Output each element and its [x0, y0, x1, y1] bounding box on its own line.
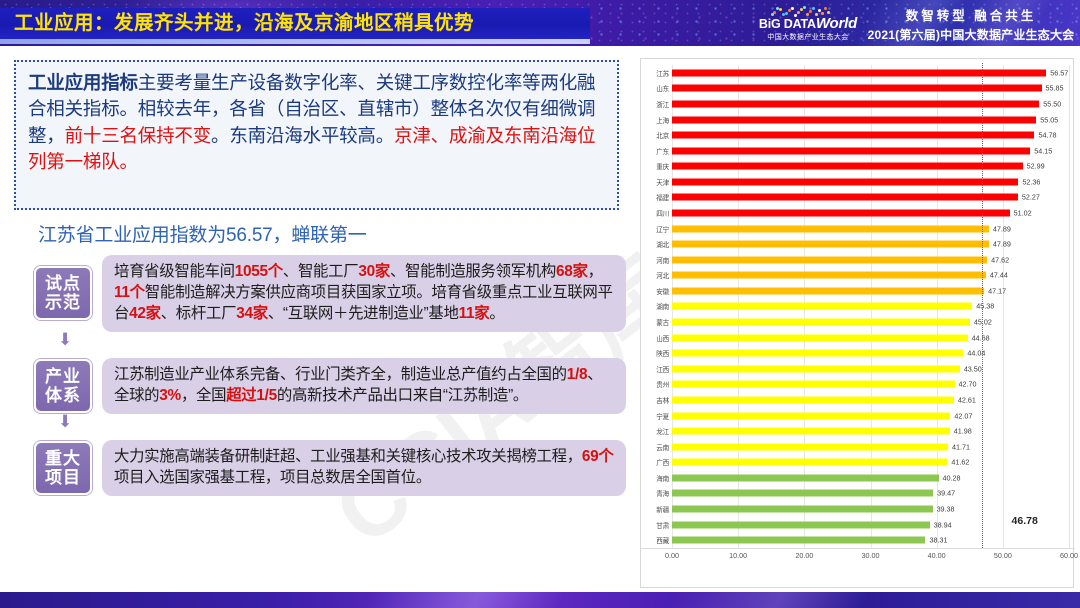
bar-value-label: 42.07 [950, 411, 972, 420]
chart-bar-row: 云南41.71 [641, 439, 1075, 455]
bar-track: 47.62 [672, 252, 1069, 268]
bar-category-label: 辽宁 [641, 224, 669, 234]
slide-footer [0, 592, 1080, 608]
bar-category-label: 山西 [641, 333, 669, 343]
chart-bar[interactable] [672, 521, 930, 528]
chart-bar-row: 浙江55.50 [641, 96, 1075, 112]
chart-bar-row: 安徽47.17 [641, 283, 1075, 299]
bar-value-label: 39.38 [933, 504, 955, 513]
chart-bar-row: 北京54.78 [641, 127, 1075, 143]
left-content-panel: 工业应用指标主要考量生产设备数字化率、关键工序数控化率等两化融合相关指标。相较去… [14, 60, 626, 588]
emphasis-number: 42家 [129, 305, 161, 322]
emphasis-number: 34家 [236, 305, 268, 322]
bar-value-label: 41.71 [948, 442, 970, 451]
chart-bar-row: 宁夏42.07 [641, 408, 1075, 424]
bar-category-label: 天津 [641, 177, 669, 187]
bar-category-label: 重庆 [641, 161, 669, 171]
bar-track: 47.89 [672, 221, 1069, 237]
bar-value-label: 43.50 [960, 364, 982, 373]
bar-category-label: 湖南 [641, 301, 669, 311]
bar-track: 41.98 [672, 423, 1069, 439]
emphasis-number: 3% [159, 387, 181, 404]
emphasis-number: 1/8 [567, 366, 588, 383]
chart-bar[interactable] [672, 537, 925, 544]
bar-value-label: 52.27 [1018, 193, 1040, 202]
logo-world-label: World [816, 15, 857, 32]
bar-category-label: 甘肃 [641, 520, 669, 530]
chart-bar[interactable] [672, 85, 1042, 92]
chart-bar-row: 湖南45.38 [641, 299, 1075, 315]
bigdata-world-logo: BiG DATAWorld 中国大数据产业生态大会 [760, 3, 856, 43]
emphasis-number: 68家 [556, 263, 588, 280]
bar-value-label: 52.99 [1023, 162, 1045, 171]
bar-category-label: 广西 [641, 457, 669, 467]
chart-bar[interactable] [672, 334, 968, 341]
bar-value-label: 55.05 [1036, 115, 1058, 124]
bar-category-label: 蒙古 [641, 317, 669, 327]
bar-value-label: 54.15 [1030, 146, 1052, 155]
bar-track: 54.15 [672, 143, 1069, 159]
bar-value-label: 56.57 [1046, 68, 1068, 77]
chart-bar-row: 龙江41.98 [641, 423, 1075, 439]
industrial-application-index-chart: 江苏56.57山东55.85浙江55.50上海55.05北京54.78广东54.… [640, 58, 1074, 588]
chart-bar[interactable] [672, 505, 933, 512]
intro-highlight-1: 前十三名保持不变 [65, 125, 211, 146]
flow-badge-pilot[interactable]: 试点 示范 [34, 266, 92, 320]
chart-bar[interactable] [672, 225, 989, 232]
bar-track: 52.99 [672, 158, 1069, 174]
x-axis-tick-label: 50.00 [994, 551, 1012, 560]
bar-category-label: 海南 [641, 473, 669, 483]
chart-bar-row: 吉林42.61 [641, 392, 1075, 408]
intro-bold-term: 工业应用指标 [28, 72, 138, 93]
bar-category-label: 龙江 [641, 426, 669, 436]
bar-value-label: 47.17 [984, 286, 1006, 295]
bar-value-label: 42.70 [955, 380, 977, 389]
arrow-down-icon: ⬇ [58, 332, 69, 348]
x-axis-tick-label: 30.00 [862, 551, 880, 560]
chart-bar[interactable] [672, 256, 987, 263]
page-title-bar: 工业应用：发展齐头并进，沿海及京渝地区稍具优势 [0, 8, 590, 39]
bar-value-label: 47.44 [986, 271, 1008, 280]
bar-value-label: 52.36 [1018, 177, 1040, 186]
chart-bar[interactable] [672, 163, 1023, 170]
chart-bar-row: 湖北47.89 [641, 236, 1075, 252]
flow-badge-line2: 项目 [45, 468, 81, 487]
bar-value-label: 51.02 [1010, 208, 1032, 217]
bar-category-label: 河北 [641, 270, 669, 280]
intro-paragraph: 工业应用指标主要考量生产设备数字化率、关键工序数控化率等两化融合相关指标。相较去… [28, 70, 607, 175]
bar-category-label: 湖北 [641, 239, 669, 249]
chart-bar-row: 贵州42.70 [641, 377, 1075, 393]
bar-track: 38.31 [672, 532, 1069, 548]
chart-bar[interactable] [672, 287, 984, 294]
flow-item: 重大 项目 大力实施高端装备研制赶超、工业强基和关键核心技术攻关揭榜工程，69个… [14, 440, 626, 496]
bar-category-label: 河南 [641, 255, 669, 265]
chart-bar-row: 新疆39.38 [641, 501, 1075, 517]
bar-value-label: 40.28 [939, 473, 961, 482]
bar-value-label: 47.89 [989, 240, 1011, 249]
bar-category-label: 江苏 [641, 68, 669, 78]
chart-bar-row: 河南47.62 [641, 252, 1075, 268]
bar-track: 55.85 [672, 81, 1069, 97]
chart-bar[interactable] [672, 474, 939, 481]
bar-category-label: 陕西 [641, 348, 669, 358]
chart-bar-row: 西藏38.31 [641, 532, 1075, 548]
bar-track: 55.50 [672, 96, 1069, 112]
bar-category-label: 贵州 [641, 379, 669, 389]
chart-bar[interactable] [672, 319, 970, 326]
chart-reference-line [982, 63, 983, 548]
bar-value-label: 44.68 [968, 333, 990, 342]
chart-bar-row: 上海55.05 [641, 112, 1075, 128]
intro-callout-box: 工业应用指标主要考量生产设备数字化率、关键工序数控化率等两化融合相关指标。相较去… [14, 60, 619, 210]
bar-category-label: 四川 [641, 208, 669, 218]
flow-badge-line2: 示范 [45, 293, 81, 312]
bar-track: 44.68 [672, 330, 1069, 346]
bar-track: 52.27 [672, 190, 1069, 206]
chart-bar[interactable] [672, 350, 963, 357]
bar-track: 52.36 [672, 174, 1069, 190]
emphasis-number: 30家 [358, 263, 390, 280]
flow-badge-line2: 体系 [45, 386, 81, 405]
chart-bar-row: 甘肃38.94 [641, 517, 1075, 533]
logo-bigdata-text: BiG DATAWorld [759, 16, 857, 31]
bar-value-label: 38.31 [925, 536, 947, 545]
intro-text-2: 。东南沿海水平较高。 [211, 125, 394, 146]
bar-value-label: 41.98 [950, 427, 972, 436]
chart-bar-row: 山西44.68 [641, 330, 1075, 346]
emphasis-number: 11个 [114, 284, 145, 301]
bar-value-label: 39.47 [933, 489, 955, 498]
x-axis-tick-label: 10.00 [729, 551, 747, 560]
bar-track: 51.02 [672, 205, 1069, 221]
conference-title-block: 数智转型 融合共生 2021(第六届)中国大数据产业生态大会 [868, 4, 1074, 44]
chart-bar[interactable] [672, 194, 1018, 201]
bar-value-label: 47.89 [989, 224, 1011, 233]
emphasis-number: 69个 [582, 448, 614, 465]
chart-bar-row: 海南40.28 [641, 470, 1075, 486]
bar-category-label: 青海 [641, 488, 669, 498]
x-axis-tick-label: 0.00 [665, 551, 679, 560]
bar-track: 39.38 [672, 501, 1069, 517]
bar-track: 45.02 [672, 314, 1069, 330]
flow-connector: ⬇ [14, 414, 626, 432]
chart-bar-row: 广西41.62 [641, 454, 1075, 470]
chart-bar-row: 青海39.47 [641, 486, 1075, 502]
chart-bar[interactable] [672, 272, 986, 279]
footer-sheen [0, 592, 1080, 608]
chart-plot-area: 江苏56.57山东55.85浙江55.50上海55.05北京54.78广东54.… [641, 59, 1075, 567]
bar-track: 41.62 [672, 454, 1069, 470]
flow-badge-line1: 试点 [45, 274, 81, 293]
bar-category-label: 福建 [641, 192, 669, 202]
flow-badge-major-projects[interactable]: 重大 项目 [34, 441, 92, 495]
flow-item: 产业 体系 江苏制造业产业体系完备、行业门类齐全，制造业总产值约占全国的1/8、… [14, 358, 626, 414]
chart-bar[interactable] [672, 428, 950, 435]
page-title: 工业应用：发展齐头并进，沿海及京渝地区稍具优势 [14, 14, 474, 34]
chart-bar[interactable] [672, 100, 1039, 107]
bar-track: 43.50 [672, 361, 1069, 377]
title-underline [0, 39, 590, 44]
bar-track: 42.07 [672, 408, 1069, 424]
x-axis-tick-label: 60.00 [1060, 551, 1078, 560]
flow-body-industry-system: 江苏制造业产业体系完备、行业门类齐全，制造业总产值约占全国的1/8、全球的3%，… [102, 358, 626, 414]
flow-item: 试点 示范 培育省级智能车间1055个、智能工厂30家、智能制造服务领军机构68… [14, 255, 626, 332]
emphasis-number: 1055个 [235, 263, 283, 280]
flow-body-major-projects: 大力实施高端装备研制赶超、工业强基和关键核心技术攻关揭榜工程，69个项目入选国家… [102, 440, 626, 496]
emphasis-number: 11家 [459, 305, 490, 322]
bar-track: 40.28 [672, 470, 1069, 486]
bar-category-label: 北京 [641, 130, 669, 140]
bar-track: 42.70 [672, 377, 1069, 393]
bar-value-label: 45.38 [972, 302, 994, 311]
flow-connector: ⬇ [14, 332, 626, 350]
chart-bar[interactable] [672, 209, 1010, 216]
slide-root: 工业应用：发展齐头并进，沿海及京渝地区稍具优势 BiG DATAWorld 中国… [0, 0, 1080, 608]
chart-bar[interactable] [672, 396, 954, 403]
chart-bar[interactable] [672, 459, 947, 466]
x-axis-tick-label: 20.00 [795, 551, 813, 560]
chart-bar[interactable] [672, 69, 1046, 76]
chart-bar-row: 广东54.15 [641, 143, 1075, 159]
chart-bar[interactable] [672, 490, 933, 497]
bar-value-label: 55.85 [1042, 84, 1064, 93]
bar-category-label: 浙江 [641, 99, 669, 109]
flow-badge-industry-system[interactable]: 产业 体系 [34, 359, 92, 413]
bar-value-label: 55.50 [1039, 99, 1061, 108]
bar-track: 39.47 [672, 486, 1069, 502]
chart-bar[interactable] [672, 443, 948, 450]
chart-bar-row: 蒙古45.02 [641, 314, 1075, 330]
bar-value-label: 41.62 [947, 458, 969, 467]
chart-reference-label: 46.78 [1012, 515, 1038, 527]
bar-category-label: 上海 [641, 115, 669, 125]
chart-bar-row: 江西43.50 [641, 361, 1075, 377]
chart-bar[interactable] [672, 241, 989, 248]
bar-track: 55.05 [672, 112, 1069, 128]
chart-bar-row: 辽宁47.89 [641, 221, 1075, 237]
chart-axis-baseline [641, 548, 1075, 549]
bar-track: 41.71 [672, 439, 1069, 455]
bar-category-label: 云南 [641, 442, 669, 452]
logo-dot-cloud-icon [769, 5, 847, 16]
chart-bar-row: 四川51.02 [641, 205, 1075, 221]
chart-bar[interactable] [672, 381, 955, 388]
conference-name: 2021(第六届)中国大数据产业生态大会 [868, 26, 1075, 43]
chart-bar-row: 陕西44.04 [641, 345, 1075, 361]
bar-track: 47.17 [672, 283, 1069, 299]
bar-value-label: 38.94 [930, 520, 952, 529]
bar-track: 45.38 [672, 299, 1069, 315]
chart-bar-row: 福建52.27 [641, 190, 1075, 206]
bar-category-label: 广东 [641, 146, 669, 156]
flow-badge-line1: 重大 [45, 449, 81, 468]
bar-track: 54.78 [672, 127, 1069, 143]
flow-badge-line1: 产业 [45, 367, 81, 386]
chart-bar-row: 江苏56.57 [641, 65, 1075, 81]
chart-bar-rows: 江苏56.57山东55.85浙江55.50上海55.05北京54.78广东54.… [641, 65, 1075, 548]
chart-bar[interactable] [672, 178, 1018, 185]
bar-category-label: 新疆 [641, 504, 669, 514]
bar-track: 42.61 [672, 392, 1069, 408]
bar-category-label: 安徽 [641, 286, 669, 296]
arrow-down-icon: ⬇ [58, 414, 69, 430]
conference-slogan: 数智转型 融合共生 [906, 5, 1036, 24]
bar-value-label: 42.61 [954, 395, 976, 404]
bar-category-label: 宁夏 [641, 411, 669, 421]
bar-value-label: 54.78 [1034, 131, 1056, 140]
chart-bar[interactable] [672, 303, 972, 310]
bar-category-label: 江西 [641, 364, 669, 374]
logo-chinese-label: 中国大数据产业生态大会 [767, 32, 848, 42]
bar-category-label: 山东 [641, 83, 669, 93]
bar-value-label: 47.62 [987, 255, 1009, 264]
x-axis-tick-label: 40.00 [928, 551, 946, 560]
chart-bar[interactable] [672, 132, 1034, 139]
bar-category-label: 西藏 [641, 535, 669, 545]
bar-track: 56.57 [672, 65, 1069, 81]
bar-track: 47.44 [672, 268, 1069, 284]
chart-x-axis: 0.0010.0020.0030.0040.0050.0060.00 [641, 551, 1075, 565]
chart-bar[interactable] [672, 365, 960, 372]
chart-bar[interactable] [672, 412, 950, 419]
emphasis-number: 超过1/5 [226, 387, 277, 404]
bar-track: 38.94 [672, 517, 1069, 533]
logo-bigdata-label: BiG DATA [759, 17, 816, 31]
chart-bar[interactable] [672, 147, 1030, 154]
chart-bar-row: 山东55.85 [641, 81, 1075, 97]
flow-body-pilot: 培育省级智能车间1055个、智能工厂30家、智能制造服务领军机构68家，11个智… [102, 255, 626, 332]
bar-category-label: 吉林 [641, 395, 669, 405]
slide-header: 工业应用：发展齐头并进，沿海及京渝地区稍具优势 BiG DATAWorld 中国… [0, 0, 1080, 46]
chart-bar-row: 河北47.44 [641, 268, 1075, 284]
bar-track: 44.04 [672, 345, 1069, 361]
chart-bar-row: 天津52.36 [641, 174, 1075, 190]
chart-bar-row: 重庆52.99 [641, 158, 1075, 174]
bar-track: 47.89 [672, 236, 1069, 252]
section-subtitle: 江苏省工业应用指数为56.57，蝉联第一 [14, 220, 626, 247]
